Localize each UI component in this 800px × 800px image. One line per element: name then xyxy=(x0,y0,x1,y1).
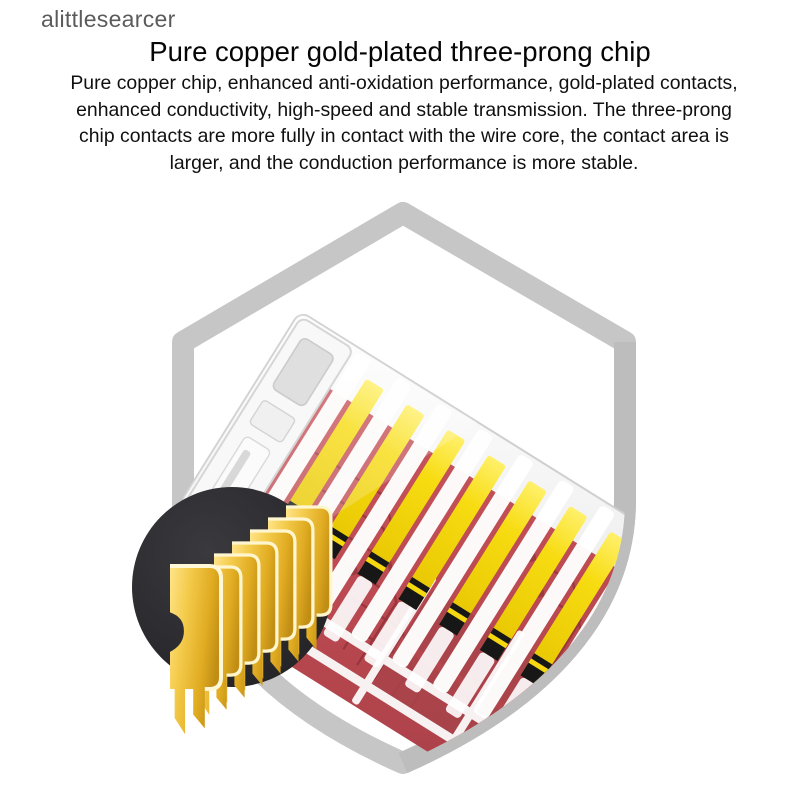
magnified-contact-inset xyxy=(0,440,800,760)
watermark-text: alittlesearcer xyxy=(41,6,176,33)
page-title: Pure copper gold-plated three-prong chip xyxy=(0,36,800,67)
body-description: Pure copper chip, enhanced anti-oxidatio… xyxy=(60,70,748,176)
product-feature-graphic: alittlesearcer Pure copper gold-plated t… xyxy=(0,0,800,800)
